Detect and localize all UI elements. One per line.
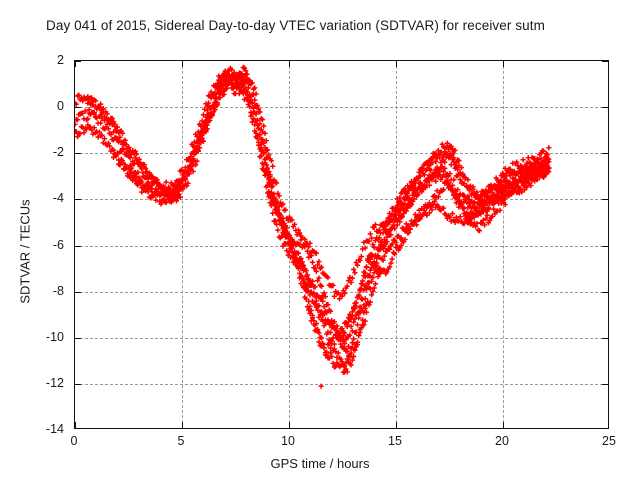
y-tick-label: -12 [8, 376, 64, 390]
plot-figure: Day 041 of 2015, Sidereal Day-to-day VTE… [0, 0, 640, 480]
y-tick-label: -2 [8, 145, 64, 159]
y-tick-label: -10 [8, 330, 64, 344]
plot-area [74, 60, 609, 429]
x-tick-label: 25 [602, 434, 616, 448]
chart-title: Day 041 of 2015, Sidereal Day-to-day VTE… [46, 18, 640, 33]
x-tick-label: 0 [71, 434, 78, 448]
series-arc-5 [111, 79, 551, 342]
y-tick-label: 2 [8, 53, 64, 67]
y-tick-label: -14 [8, 422, 64, 436]
series-arc-8-outlier [319, 384, 324, 389]
y-tick-label: 0 [8, 99, 64, 113]
x-tick-label: 5 [178, 434, 185, 448]
y-tick-label: -4 [8, 191, 64, 205]
x-tick-label: 20 [495, 434, 509, 448]
y-axis-title: SDTVAR / TECUs [18, 132, 33, 372]
x-axis-title: GPS time / hours [0, 456, 640, 471]
x-tick-label: 10 [281, 434, 295, 448]
x-tick-label: 15 [388, 434, 402, 448]
data-series-layer [75, 61, 609, 429]
y-tick-label: -8 [8, 284, 64, 298]
y-tick-label: -6 [8, 238, 64, 252]
scatter-markers [75, 61, 609, 429]
